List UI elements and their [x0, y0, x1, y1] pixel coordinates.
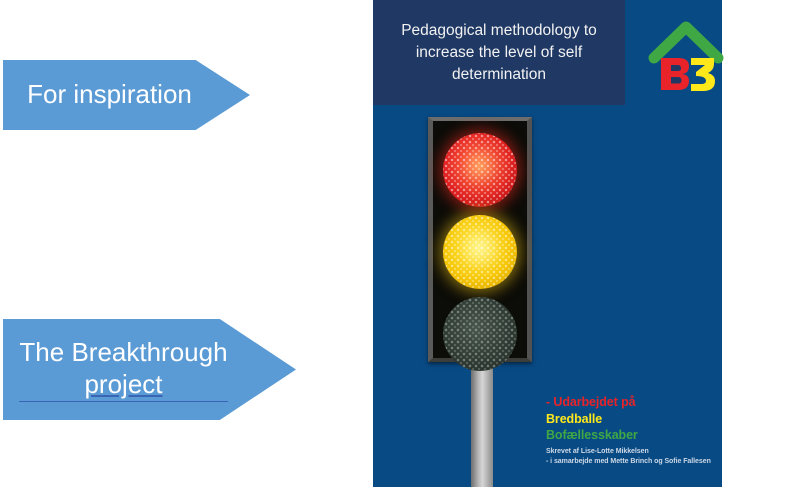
logo-digit-3 — [691, 58, 715, 91]
callout-label-for-inspiration: For inspiration — [27, 79, 226, 111]
callout-arrow-for-inspiration[interactable]: For inspiration — [3, 60, 250, 130]
poster-header-band: Pedagogical methodology to increase the … — [373, 0, 625, 105]
logo-letter-b — [661, 58, 689, 90]
traffic-light-housing — [428, 117, 532, 362]
yellow-lamp-icon — [443, 215, 517, 289]
yellow-lamp-led-grid — [443, 215, 517, 289]
poster-title: Pedagogical methodology to increase the … — [383, 20, 615, 86]
red-lamp-led-grid — [443, 133, 517, 207]
green-lamp-icon — [443, 297, 517, 371]
logo-b-hole-upper — [671, 65, 681, 71]
callout-label-line2-underlined: project — [19, 369, 227, 403]
callout-arrow-the-breakthrough-project[interactable]: The Breakthroughproject — [3, 319, 296, 420]
red-lamp-icon — [443, 133, 517, 207]
credit-line-bredballe: Bredballe — [546, 411, 716, 428]
b3-house-logo-icon — [648, 18, 724, 98]
callout-label-line1: The Breakthrough — [19, 337, 227, 367]
green-lamp-led-grid — [443, 297, 517, 371]
logo-roof-icon — [654, 27, 718, 58]
credit-author-line: Skrevet af Lise-Lotte Mikkelsen — [546, 447, 716, 457]
poster-credits: - Udarbejdet på Bredballe Bofællesskaber… — [546, 394, 716, 467]
credit-line-bofaellesskaber: Bofællesskaber — [546, 427, 716, 444]
credit-collaborators-line: - i samarbejde med Mette Brinch og Sofie… — [546, 457, 716, 467]
credit-line-udarbejdet: - Udarbejdet på — [546, 394, 716, 411]
logo-b-hole-lower — [671, 77, 682, 84]
callout-label-the-breakthrough-project: The Breakthroughproject — [19, 337, 279, 402]
